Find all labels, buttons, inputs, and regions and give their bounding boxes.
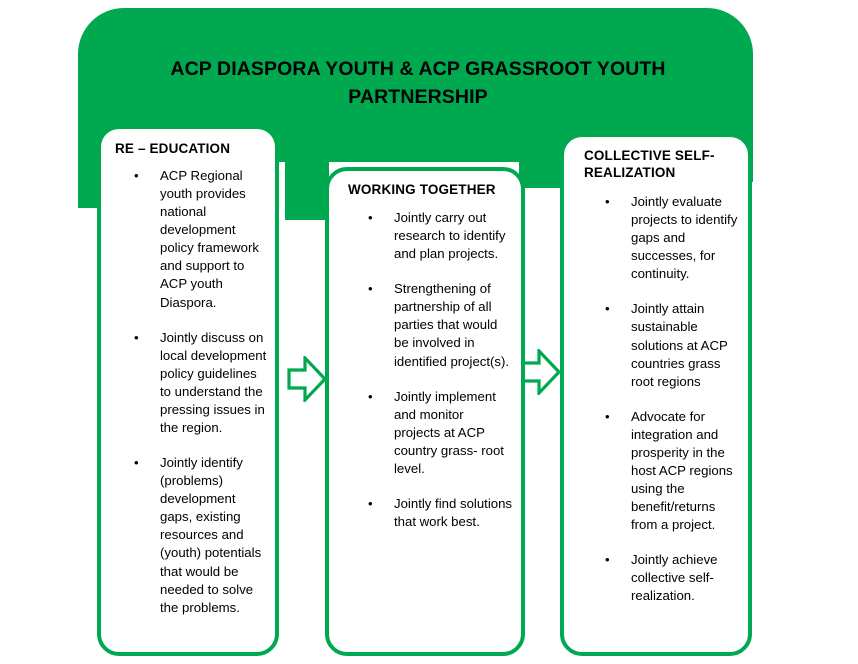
- list-item-text: Jointly implement and monitor projects a…: [394, 389, 504, 476]
- list-item: • Advocate for integration and prosperit…: [602, 408, 740, 535]
- list-item-text: Jointly carry out research to identify a…: [394, 210, 505, 261]
- stage-title-working-together: WORKING TOGETHER: [348, 181, 511, 198]
- arrow-right-icon-1: [287, 356, 327, 402]
- list-item: • Jointly evaluate projects to identify …: [602, 193, 740, 283]
- bullet-dot-icon: •: [368, 280, 373, 298]
- bullet-dot-icon: •: [134, 167, 139, 185]
- list-item-text: ACP Regional youth provides national dev…: [160, 168, 259, 310]
- list-item: • Jointly identify (problems) developmen…: [131, 454, 269, 617]
- list-item-text: Jointly achieve collective self-realizat…: [631, 552, 718, 603]
- list-item: • Jointly discuss on local development p…: [131, 329, 269, 437]
- banner-filler-mid-2: [519, 160, 563, 188]
- bullet-dot-icon: •: [605, 408, 610, 426]
- stage-title-re-education: RE – EDUCATION: [115, 140, 265, 157]
- list-item: • Jointly attain sustainable solutions a…: [602, 300, 740, 390]
- list-item-text: Advocate for integration and prosperity …: [631, 409, 733, 532]
- arrow-right-icon-2: [521, 349, 561, 395]
- partnership-process-diagram: ACP DIASPORA YOUTH & ACP GRASSROOT YOUTH…: [0, 0, 858, 664]
- bullet-list-working-together: • Jointly carry out research to identify…: [365, 209, 513, 531]
- bullet-dot-icon: •: [368, 495, 373, 513]
- bullet-list-collective-self-realization: • Jointly evaluate projects to identify …: [602, 193, 740, 606]
- list-item-text: Jointly evaluate projects to identify ga…: [631, 194, 737, 281]
- bullet-dot-icon: •: [368, 209, 373, 227]
- stage-card-re-education: RE – EDUCATION • ACP Regional youth prov…: [97, 125, 279, 656]
- bullet-dot-icon: •: [134, 454, 139, 472]
- list-item-text: Jointly identify (problems) development …: [160, 455, 261, 615]
- list-item: • Jointly carry out research to identify…: [365, 209, 513, 263]
- list-item-text: Jointly find solutions that work best.: [394, 496, 512, 529]
- list-item-text: Jointly discuss on local development pol…: [160, 330, 266, 435]
- bullet-dot-icon: •: [134, 329, 139, 347]
- bullet-dot-icon: •: [605, 300, 610, 318]
- list-item: • Jointly find solutions that work best.: [365, 495, 513, 531]
- stage-card-working-together: WORKING TOGETHER • Jointly carry out res…: [325, 167, 525, 656]
- bullet-dot-icon: •: [605, 551, 610, 569]
- list-item: • Jointly implement and monitor projects…: [365, 388, 513, 478]
- diagram-title: ACP DIASPORA YOUTH & ACP GRASSROOT YOUTH…: [138, 56, 698, 111]
- list-item: • Jointly achieve collective self-realiz…: [602, 551, 740, 605]
- stage-title-collective-self-realization: COLLECTIVE SELF-REALIZATION: [584, 147, 738, 181]
- list-item: • ACP Regional youth provides national d…: [131, 167, 269, 312]
- list-item: • Strengthening of partnership of all pa…: [365, 280, 513, 370]
- list-item-text: Strengthening of partnership of all part…: [394, 281, 509, 368]
- stage-card-collective-self-realization: COLLECTIVE SELF-REALIZATION • Jointly ev…: [560, 133, 752, 656]
- bullet-dot-icon: •: [368, 388, 373, 406]
- bullet-dot-icon: •: [605, 193, 610, 211]
- bullet-list-re-education: • ACP Regional youth provides national d…: [131, 167, 269, 617]
- banner-filler-mid-1: [285, 160, 329, 220]
- list-item-text: Jointly attain sustainable solutions at …: [631, 301, 728, 388]
